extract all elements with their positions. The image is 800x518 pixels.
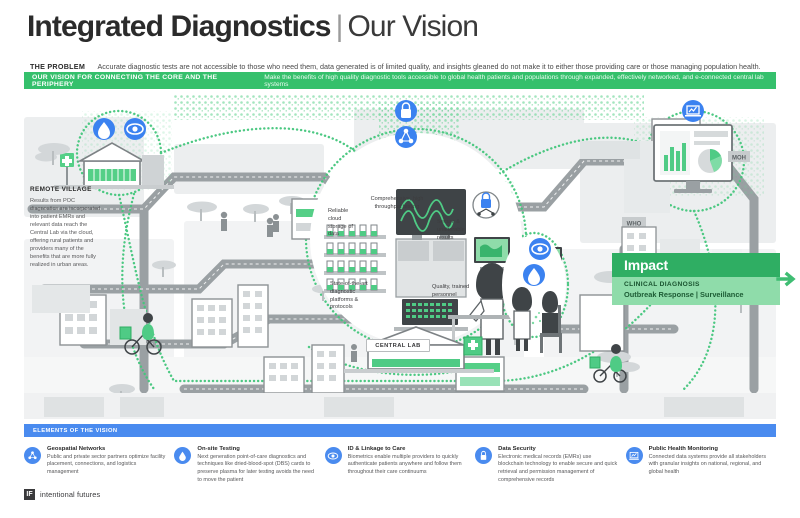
annotation-secure-results: Secure & unalterable results [437, 219, 479, 242]
impact-panel: Impact CLINICAL DIAGNOSIS Outbreak Respo… [612, 253, 780, 305]
central-lab-label-text: CENTRAL LAB [375, 343, 421, 349]
remote-village-heading: REMOTE VILLAGE [30, 186, 102, 193]
element-body: Biometrics enable multiple providers to … [348, 454, 467, 477]
element-body: Public and private sector partners optim… [47, 454, 166, 477]
impact-title: Impact [624, 257, 668, 273]
impact-detail: CLINICAL DIAGNOSIS Outbreak Response | S… [612, 277, 780, 305]
element-on-site-testing[interactable]: On-site Testing Next generation point-of… [174, 446, 324, 485]
vision-text: Make the benefits of high quality diagno… [264, 74, 776, 88]
element-title: On-site Testing [197, 446, 316, 452]
annotation-diagnostic-platforms: State-of-the-art diagnostic platforms & … [330, 281, 370, 312]
lock-icon [475, 447, 492, 464]
annotation-comprehensive-testing: Comprehensive, high throughput testing [362, 196, 432, 212]
title-light-part: Our Vision [348, 10, 479, 43]
geospatial-network-icon [24, 447, 41, 464]
element-title: Public Health Monitoring [649, 446, 768, 452]
impact-kicker: CLINICAL DIAGNOSIS [624, 281, 780, 288]
eye-icon [325, 447, 342, 464]
impact-arrow-icon [776, 268, 798, 290]
impact-title-bar: Impact [612, 253, 780, 277]
annotation-cloud-storage: Reliable cloud storage of data [328, 208, 360, 239]
problem-label: THE PROBLEM [30, 62, 85, 71]
logo-mark-text: IF [26, 491, 32, 498]
remote-village-body: Results from POC diagnostics are incorpo… [30, 198, 102, 269]
elements-bar: ELEMENTS OF THE VISION [24, 424, 776, 437]
footer-logo: IF intentional futures [24, 489, 100, 500]
elements-list: Geospatial Networks Public and private s… [24, 446, 776, 485]
elements-of-the-vision: ELEMENTS OF THE VISION Geospatial Networ… [24, 424, 776, 485]
central-lab-label: CENTRAL LAB [366, 339, 430, 352]
monitor-chart-icon [626, 447, 643, 464]
element-body: Electronic medical records (EMRs) use bl… [498, 454, 617, 485]
problem-text: Accurate diagnostic tests are not access… [98, 62, 761, 71]
page-title: Integrated Diagnostics|Our Vision [27, 10, 478, 44]
element-public-health-monitoring[interactable]: Public Health Monitoring Connected data … [626, 446, 776, 485]
element-id-linkage-to-care[interactable]: ID & Linkage to Care Biometrics enable m… [325, 446, 475, 485]
droplet-icon [174, 447, 191, 464]
vision-banner: OUR VISION FOR CONNECTING THE CORE AND T… [24, 72, 776, 89]
title-bold-part: Integrated Diagnostics [27, 10, 331, 43]
element-data-security[interactable]: Data Security Electronic medical records… [475, 446, 625, 485]
remote-village-callout: REMOTE VILLAGE Results from POC diagnost… [30, 186, 102, 269]
vision-label: OUR VISION FOR CONNECTING THE CORE AND T… [32, 74, 255, 88]
elements-bar-label: ELEMENTS OF THE VISION [33, 428, 118, 434]
infographic-page: Integrated Diagnostics|Our Vision THE PR… [0, 0, 800, 518]
title-divider: | [331, 10, 348, 43]
intentional-futures-logo-icon: IF [24, 489, 35, 500]
element-title: Data Security [498, 446, 617, 452]
element-title: Geospatial Networks [47, 446, 166, 452]
element-geospatial-networks[interactable]: Geospatial Networks Public and private s… [24, 446, 174, 485]
annotation-trained-personnel: Quality, trained personnel [432, 284, 472, 300]
logo-wordmark: intentional futures [40, 490, 100, 499]
element-title: ID & Linkage to Care [348, 446, 467, 452]
element-body: Next generation point-of-care diagnostic… [197, 454, 316, 485]
element-body: Connected data systems provide all stake… [649, 454, 768, 477]
moh-label: MOH [732, 156, 746, 162]
impact-subtitle: Outbreak Response | Surveillance [624, 290, 780, 299]
